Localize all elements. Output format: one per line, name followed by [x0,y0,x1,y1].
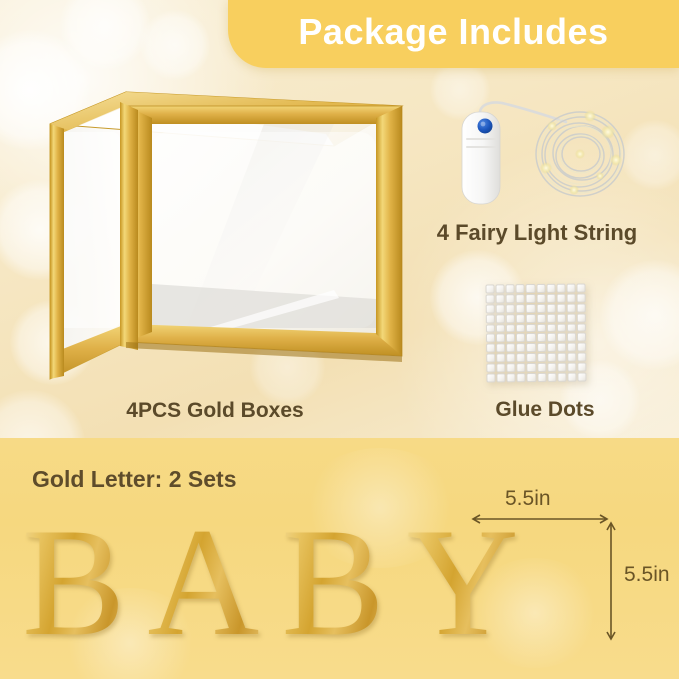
glue-dot [577,373,586,382]
fairy-light-string-icon [440,98,665,208]
glue-dot [547,333,556,342]
glue-dot [496,364,505,373]
glue-dot [526,294,535,303]
glue-dot [516,304,525,313]
glue-dot [496,354,505,363]
glue-dot [577,363,586,372]
glue-dot [557,323,566,332]
glue-dot [567,363,576,372]
glue-dot [536,294,545,303]
glue-dot [485,284,494,293]
glue-dot [546,304,555,313]
bokeh-circle [60,0,150,70]
glue-dot [546,323,555,332]
glue-dot [527,353,536,362]
glue-dot [496,344,505,353]
glue-dot [497,373,506,382]
glue-dot [496,284,505,293]
glue-dot [486,314,495,323]
glue-dot [496,314,505,323]
glue-dot [556,294,565,303]
glue-dot [536,314,545,323]
glue-dot [577,313,586,322]
glue-dot [527,373,536,382]
glue-dot [516,284,525,293]
glue-dot [507,373,516,382]
glue-dot [526,333,535,342]
glue-dot [506,284,515,293]
glue-dot [496,294,505,303]
transparent-gold-box-icon [34,84,416,389]
glue-dot [567,333,576,342]
glue-dot [506,324,515,333]
gold-letter: A [147,509,259,656]
glue-dot [506,294,515,303]
glue-dot [496,334,505,343]
glue-dot [546,313,555,322]
glue-dot [507,363,516,372]
glue-dot [567,353,576,362]
glue-dot [496,304,505,313]
glue-dot [557,363,566,372]
glue-dot [517,363,526,372]
glue-dot [486,354,495,363]
glue-dot [567,343,576,352]
glue-dot [537,333,546,342]
glue-dot [526,304,535,313]
glue-dot [566,303,575,312]
label-fairy-lights: 4 Fairy Light String [395,220,679,246]
glue-dots-sheet-icon [485,283,586,382]
glue-dot [486,334,495,343]
glue-dot [576,283,585,292]
glue-dot [537,373,546,382]
glue-dot [557,353,566,362]
glue-dot [547,343,556,352]
glue-dot [486,364,495,373]
glue-dot [516,334,525,343]
glue-dot [506,344,515,353]
glue-dot [577,353,586,362]
glue-dot [526,343,535,352]
glue-dot [567,313,576,322]
glue-dot [516,324,525,333]
glue-dot [577,323,586,332]
glue-dot [506,314,515,323]
gold-box-illustration [34,84,416,389]
product-infographic: Package Includes [0,0,679,679]
glue-dot [537,343,546,352]
glue-dot [506,354,515,363]
glue-dot [516,314,525,323]
glue-dot [516,294,525,303]
gold-letter: B [281,509,384,656]
header-banner: Package Includes [228,0,679,68]
glue-dot [506,334,515,343]
glue-dot [486,374,495,383]
glue-dot [486,324,495,333]
glue-dot [536,304,545,313]
glue-dots-illustration [486,284,586,382]
glue-dot [546,284,555,293]
glue-dot [536,284,545,293]
glue-dot [547,373,556,382]
page-title: Package Includes [298,14,608,54]
bokeh-circle [600,260,679,370]
glue-dot [536,323,545,332]
glue-dot [496,324,505,333]
glue-dot [486,294,495,303]
glue-dot [486,344,495,353]
glue-dot [557,373,566,382]
gold-letter: B [22,509,125,656]
label-gold-boxes: 4PCS Gold Boxes [0,399,430,423]
glue-dot [567,323,576,332]
glue-dot [557,333,566,342]
glue-dot [537,353,546,362]
glue-dot [566,293,575,302]
glue-dot [556,284,565,293]
glue-dot [546,294,555,303]
top-section: Package Includes [0,0,679,438]
bokeh-circle [140,10,210,80]
label-glue-dots: Glue Dots [420,398,670,422]
glue-dot [537,363,546,372]
gold-letter-title: Gold Letter: 2 Sets [32,466,236,493]
glue-dot [567,373,576,382]
glue-dot [517,373,526,382]
glue-dot [526,324,535,333]
glue-dot [556,313,565,322]
glue-dot [566,284,575,293]
glue-dot [577,333,586,342]
glue-dot [577,343,586,352]
glue-dot [576,293,585,302]
glue-dot [556,303,565,312]
glue-dot [506,304,515,313]
glue-dot [527,363,536,372]
dimension-width-label: 5.5in [505,487,551,511]
glue-dot [547,353,556,362]
dimension-height-label: 5.5in [624,563,670,587]
glue-dot [557,343,566,352]
glue-dot [577,303,586,312]
glue-dot [516,344,525,353]
glue-dot [486,304,495,313]
glue-dot [517,353,526,362]
glue-dot [526,314,535,323]
glue-dot [526,284,535,293]
fairy-light-illustration [440,98,665,208]
glue-dot [547,363,556,372]
